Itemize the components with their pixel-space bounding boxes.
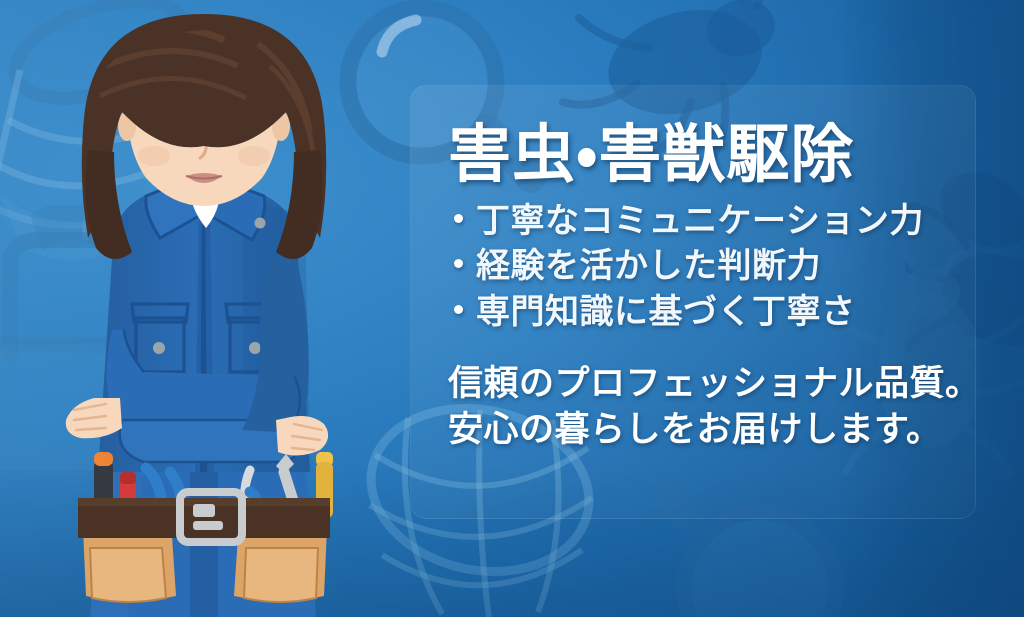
bullet-dot-icon <box>454 259 463 268</box>
feature-list: 丁寧なコミュニケーション力 経験を活かした判断力 専門知識に基づく丁寧さ <box>448 199 946 336</box>
list-item: 経験を活かした判断力 <box>454 244 946 290</box>
bullet-dot-icon <box>454 305 463 314</box>
text-panel-content: 害虫・害獣駆除 丁寧なコミュニケーション力 経験を活かした判断力 専門知識に基づ… <box>410 85 976 519</box>
page-title: 害虫・害獣駆除 <box>448 123 946 189</box>
list-item: 丁寧なコミュニケーション力 <box>454 199 946 245</box>
tagline-line-1: 信頼のプロフェッショナル品質。 <box>448 361 946 407</box>
technician-illustration <box>0 0 414 617</box>
tagline-line-2: 安心の暮らしをお届けします。 <box>448 407 946 453</box>
list-item: 専門知識に基づく丁寧さ <box>454 290 946 336</box>
bullet-dot-icon <box>454 214 463 223</box>
list-item-label: 経験を活かした判断力 <box>476 244 821 290</box>
tagline: 信頼のプロフェッショナル品質。 安心の暮らしをお届けします。 <box>448 361 946 453</box>
hero-banner: 害虫・害獣駆除 丁寧なコミュニケーション力 経験を活かした判断力 専門知識に基づ… <box>0 0 1024 617</box>
list-item-label: 専門知識に基づく丁寧さ <box>476 290 856 336</box>
list-item-label: 丁寧なコミュニケーション力 <box>476 199 924 245</box>
